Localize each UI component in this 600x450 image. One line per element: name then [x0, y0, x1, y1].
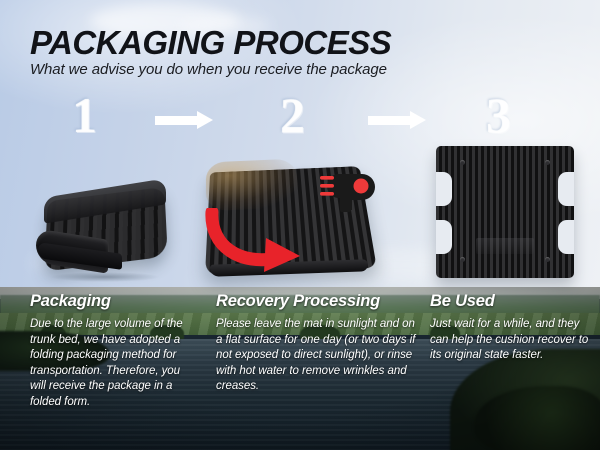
arrow-head — [410, 111, 426, 129]
heat-gun-icon — [318, 164, 380, 214]
flat-mat-image — [436, 146, 576, 286]
mat-logo — [476, 238, 534, 254]
column-recovery-processing: Recovery Processing Please leave the mat… — [216, 292, 416, 395]
red-curved-arrow-icon — [204, 208, 314, 278]
step-number-3: 3 — [486, 90, 511, 140]
mat-bolt — [545, 160, 550, 165]
page-title: PACKAGING PROCESS — [30, 24, 391, 62]
step-number-1: 1 — [72, 90, 97, 140]
product-shadow — [50, 272, 160, 282]
column-heading: Packaging — [30, 292, 198, 311]
arrow-right-icon — [368, 111, 428, 129]
mat-bolt — [545, 257, 550, 262]
flat-mat-surface — [436, 146, 574, 278]
folded-mat-image — [28, 186, 178, 286]
page-subtitle: What we advise you do when you receive t… — [30, 61, 387, 78]
column-heading: Recovery Processing — [216, 292, 416, 311]
column-body: Due to the large volume of the trunk bed… — [30, 317, 198, 410]
column-heading: Be Used — [430, 292, 590, 311]
mat-bolt — [460, 160, 465, 165]
mat-notch — [436, 172, 452, 206]
infographic-poster: PACKAGING PROCESS What we advise you do … — [0, 0, 600, 450]
mat-notch — [558, 220, 574, 254]
column-body: Please leave the mat in sunlight and on … — [216, 317, 416, 395]
arrow-head — [197, 111, 213, 129]
mat-notch — [436, 220, 452, 254]
arrow-shaft — [155, 116, 199, 125]
column-body: Just wait for a while, and they can help… — [430, 317, 590, 364]
step-number-2: 2 — [280, 90, 305, 140]
column-be-used: Be Used Just wait for a while, and they … — [430, 292, 590, 364]
mat-bolt — [460, 257, 465, 262]
mat-notch — [558, 172, 574, 206]
arrow-shaft — [368, 116, 412, 125]
column-packaging: Packaging Due to the large volume of the… — [30, 292, 198, 410]
arrow-right-icon — [155, 111, 215, 129]
mat-with-heat-gun-image — [200, 150, 390, 290]
